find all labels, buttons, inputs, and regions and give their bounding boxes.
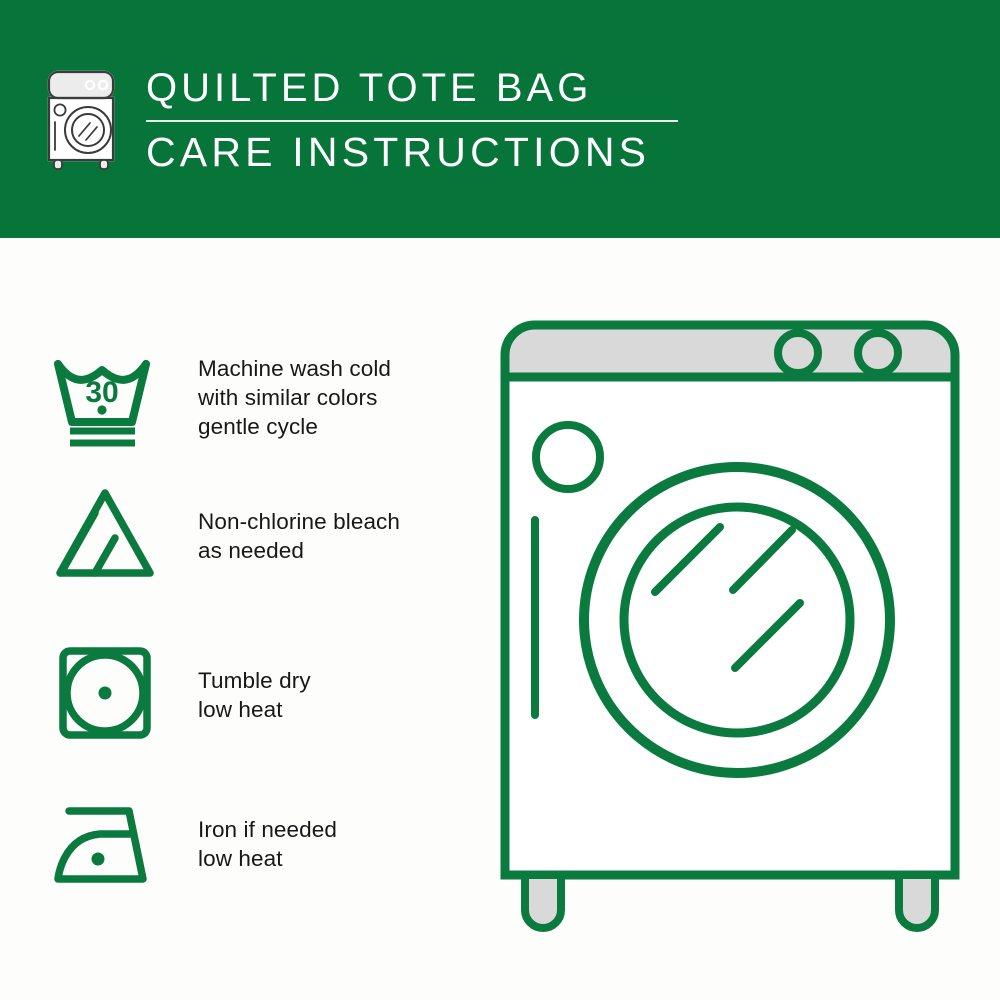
header-title-group: QUILTED TOTE BAG CARE INSTRUCTIONS [146,64,846,176]
header-banner: QUILTED TOTE BAG CARE INSTRUCTIONS [0,0,1000,238]
care-instruction-row: Iron if needed low heat [50,789,470,899]
care-text-line: Machine wash cold [198,354,391,383]
care-instruction-text: Tumble dry low heat [198,638,311,724]
care-instruction-text: Iron if needed low heat [198,789,337,873]
care-text-line: with similar colors [198,383,391,412]
wash-temp-label: 30 [85,376,118,409]
care-instruction-text: Non-chlorine bleach as needed [198,481,400,565]
care-text-line: Iron if needed [198,815,337,844]
care-text-line: gentle cycle [198,412,391,441]
non-chlorine-bleach-triangle-icon [50,481,160,591]
care-text-line: Tumble dry [198,666,311,695]
washer-leg-left [525,875,561,928]
care-text-line: as needed [198,536,400,565]
care-text-line: low heat [198,695,311,724]
care-instructions-list: 30 Machine wash cold with similar colors… [0,238,470,1000]
tumble-dry-low-heat-icon [50,638,160,748]
washing-machine-icon [44,68,126,172]
title-divider [146,120,678,122]
care-text-line: low heat [198,844,337,873]
page-title: QUILTED TOTE BAG [146,64,846,112]
wash-tub-30-gentle-icon: 30 [50,346,160,456]
washing-machine-illustration [480,320,980,940]
washer-leg-right [899,875,935,928]
care-instruction-text: Machine wash cold with similar colors ge… [198,346,391,441]
care-text-line: Non-chlorine bleach [198,507,400,536]
care-instruction-row: Non-chlorine bleach as needed [50,481,470,591]
care-instruction-row: 30 Machine wash cold with similar colors… [50,346,470,456]
care-instruction-row: Tumble dry low heat [50,638,470,748]
page-subtitle: CARE INSTRUCTIONS [146,128,846,176]
iron-low-heat-icon [50,789,160,899]
